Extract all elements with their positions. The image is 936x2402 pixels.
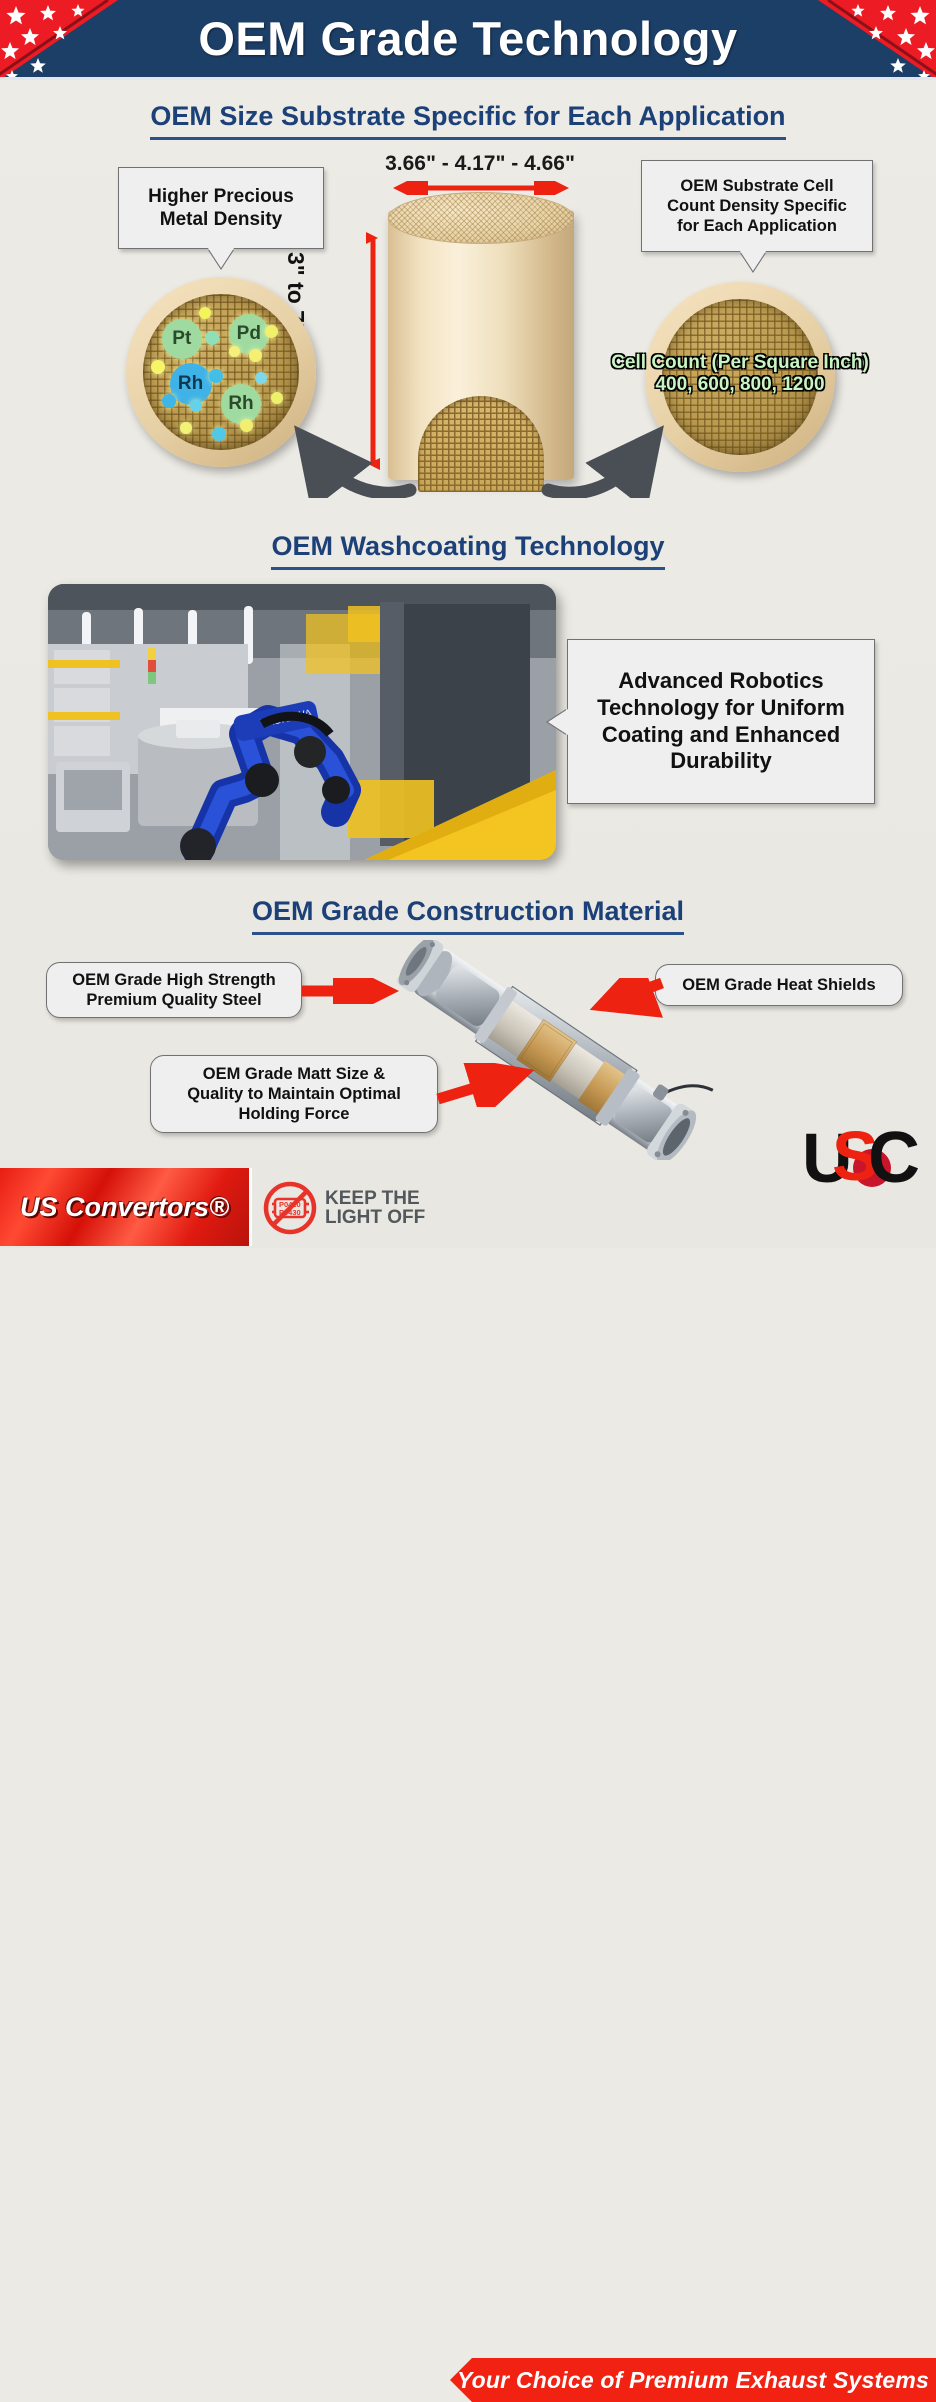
- page-title: OEM Grade Technology: [0, 0, 936, 77]
- metal-particle-rh-green: Rh: [221, 384, 261, 424]
- callout-high-strength-steel: OEM Grade High Strength Premium Quality …: [46, 962, 302, 1018]
- callout-oem-substrate-cell-count: OEM Substrate Cell Count Density Specifi…: [641, 160, 873, 252]
- infographic-page: OEM Grade Technology OEM Size Substrate …: [0, 0, 936, 1248]
- diameter-label: 3.66" - 4.17" - 4.66": [330, 152, 630, 176]
- arrow-to-matt: [436, 1063, 542, 1107]
- section-heading-washcoating-text: OEM Washcoating Technology: [271, 531, 664, 570]
- cell-count-title: Cell Count (Per Square Inch): [592, 352, 888, 374]
- page-header: OEM Grade Technology: [0, 0, 936, 80]
- metal-particle-pt: Pt: [162, 319, 202, 359]
- tagline-banner: Your Choice of Premium Exhaust Systems: [450, 2358, 936, 2402]
- metal-speck: [151, 360, 165, 374]
- page-footer: US Convertors® P0420 P0430 KEEP THE LIGH…: [0, 1163, 936, 1248]
- section-heading-substrate-text: OEM Size Substrate Specific for Each App…: [150, 101, 785, 140]
- tagline-text: Your Choice of Premium Exhaust Systems: [457, 2367, 929, 2394]
- section-heading-construction: OEM Grade Construction Material: [0, 896, 936, 935]
- honeycomb-mesh-left: Pt Pd Rh Rh: [143, 294, 299, 450]
- metal-speck: [229, 346, 240, 357]
- cell-count-values: 400, 600, 800, 1200: [592, 374, 888, 396]
- callout-tail-left: [208, 248, 234, 268]
- curved-arrow-right: [540, 398, 670, 498]
- section-heading-construction-text: OEM Grade Construction Material: [252, 896, 684, 935]
- arrow-to-heat-shields: [586, 978, 666, 1018]
- cell-count-label: Cell Count (Per Square Inch) 400, 600, 8…: [592, 352, 888, 397]
- no-check-engine-light-icon: P0420 P0430: [262, 1180, 318, 1236]
- cylinder-top-honeycomb: [388, 192, 574, 244]
- metal-speck: [209, 369, 223, 383]
- metal-speck: [255, 372, 267, 384]
- robotics-photo: YASKAWA: [48, 584, 556, 860]
- metal-speck: [249, 349, 262, 362]
- metal-speck: [240, 419, 253, 432]
- robot-photo-illustration: YASKAWA: [48, 584, 556, 860]
- metal-speck: [271, 392, 283, 404]
- callout-matt-size: OEM Grade Matt Size & Quality to Maintai…: [150, 1055, 438, 1133]
- us-convertors-brand-text: US Convertors®: [20, 1192, 229, 1223]
- metal-speck: [180, 422, 192, 434]
- metal-speck: [162, 394, 176, 408]
- metal-speck: [190, 400, 202, 412]
- arrow-to-steel: [300, 978, 404, 1004]
- keep-light-line-2: LIGHT OFF: [325, 1208, 425, 1227]
- us-convertors-brand-panel: US Convertors®: [0, 1168, 252, 1246]
- keep-the-light-off-badge: P0420 P0430 KEEP THE LIGHT OFF: [262, 1179, 442, 1237]
- callout-advanced-robotics: Advanced Robotics Technology for Uniform…: [567, 639, 875, 804]
- callout-tail-robotics: [548, 709, 568, 735]
- metal-speck: [199, 307, 211, 319]
- keep-light-off-text: KEEP THE LIGHT OFF: [325, 1189, 425, 1228]
- callout-tail-right: [740, 251, 766, 271]
- section-heading-washcoating: OEM Washcoating Technology: [0, 531, 936, 570]
- curved-arrow-left: [288, 398, 418, 498]
- metal-particle-rh-blue: Rh: [170, 363, 212, 405]
- callout-heat-shields: OEM Grade Heat Shields: [655, 964, 903, 1006]
- callout-higher-precious-metal-density: Higher Precious Metal Density: [118, 167, 324, 249]
- keep-light-line-1: KEEP THE: [325, 1189, 425, 1208]
- metal-speck: [205, 331, 219, 345]
- metal-speck: [212, 427, 226, 441]
- section-heading-substrate: OEM Size Substrate Specific for Each App…: [0, 101, 936, 140]
- metal-speck: [265, 325, 278, 338]
